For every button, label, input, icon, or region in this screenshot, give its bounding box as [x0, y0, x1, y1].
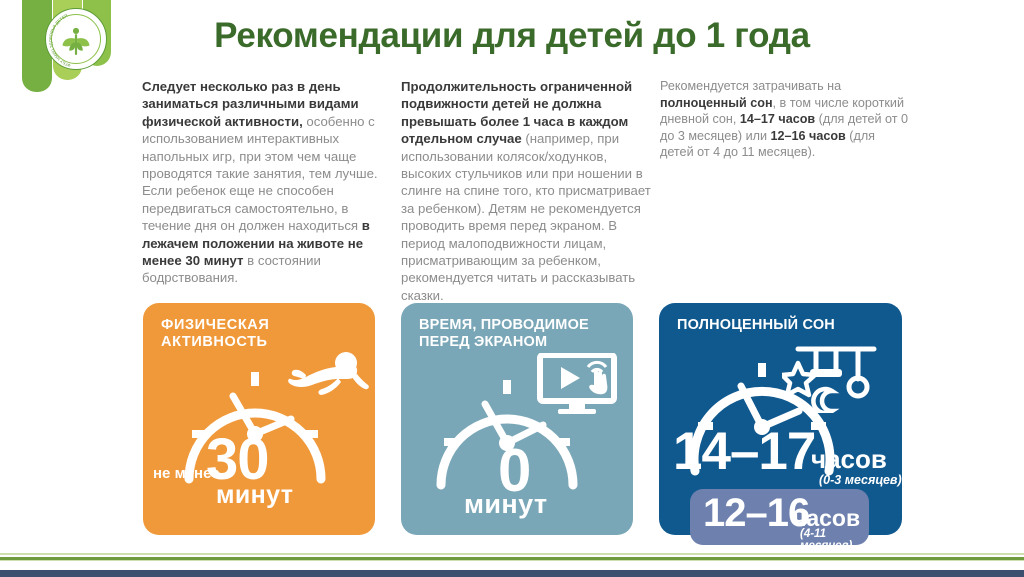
- card-screen-time: ВРЕМЯ, ПРОВОДИМОЕ ПЕРЕД ЭКРАНОМ: [401, 303, 633, 535]
- footer-rule-light-green-top: [0, 553, 1024, 555]
- card-activity-header: ФИЗИЧЕСКАЯ АКТИВНОСТЬ: [143, 303, 375, 351]
- baby-mobile-icon: [782, 327, 888, 413]
- card-screen-header-line1: ВРЕМЯ, ПРОВОДИМОЕ: [419, 317, 619, 334]
- monitor-play-icon: [536, 353, 622, 417]
- badge-sleep-secondary: 12–16 часов (4-11 месяцев): [690, 489, 869, 545]
- footer-rule-light-green-bottom: [0, 560, 1024, 561]
- card-sleep-value: 14–17: [673, 425, 815, 478]
- card-physical-activity: ФИЗИЧЕСКАЯ АКТИВНОСТЬ: [143, 303, 375, 535]
- card-screen-unit: минут: [464, 489, 547, 520]
- card-screen-header: ВРЕМЯ, ПРОВОДИМОЕ ПЕРЕД ЭКРАНОМ: [401, 303, 633, 351]
- footer-navy-bar: [0, 570, 1024, 577]
- card-activity-unit: минут: [216, 481, 293, 510]
- crawling-baby-icon: [282, 347, 372, 417]
- card-sleep-unit: часов: [811, 444, 887, 475]
- card-sleep-subnote: (0-3 месяцев): [819, 473, 902, 487]
- cards-row: ФИЗИЧЕСКАЯ АКТИВНОСТЬ: [0, 0, 1024, 577]
- badge-subnote: (4-11 месяцев): [800, 528, 869, 552]
- card-screen-header-line2: ПЕРЕД ЭКРАНОМ: [419, 334, 619, 351]
